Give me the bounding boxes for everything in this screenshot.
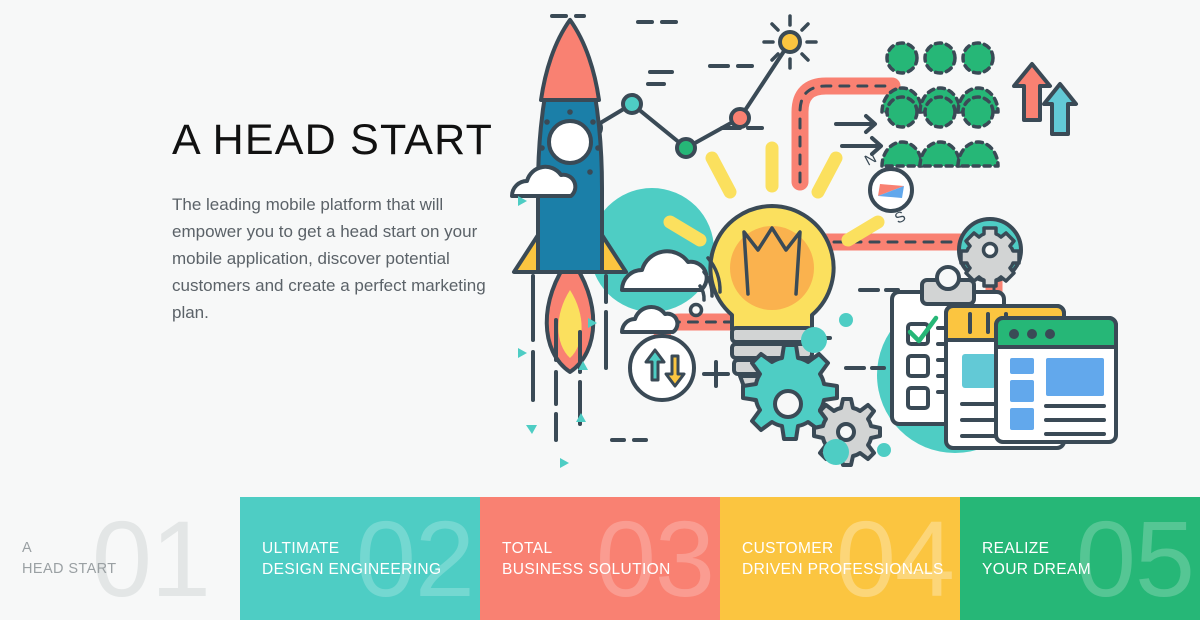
plus-icon	[704, 362, 728, 386]
step-segment-4[interactable]: 04 CUSTOMER DRIVEN PROFESSIONALS	[720, 497, 960, 620]
slide-canvas: A HEAD START The leading mobile platform…	[0, 0, 1200, 620]
step-number-5: 05	[1076, 505, 1194, 613]
up-arrow-icon	[1014, 64, 1076, 134]
svg-text:S: S	[892, 208, 909, 228]
step-labels-1: A HEAD START	[22, 538, 117, 580]
step-bar: 01 A HEAD START 02 ULTIMATE DESIGN ENGIN…	[0, 497, 1200, 620]
step-labels-2: ULTIMATE DESIGN ENGINEERING	[262, 538, 441, 580]
step-label-line1: TOTAL	[502, 538, 671, 559]
step-label-line2: DRIVEN PROFESSIONALS	[742, 559, 944, 580]
step-labels-4: CUSTOMER DRIVEN PROFESSIONALS	[742, 538, 944, 580]
hero-copy-block: A HEAD START The leading mobile platform…	[172, 118, 502, 326]
arrow-right-icon	[836, 116, 881, 154]
step-labels-5: REALIZE YOUR DREAM	[982, 538, 1091, 580]
step-label-line1: A	[22, 538, 117, 559]
settings-gear-icon	[959, 219, 1021, 286]
line-chart-icon	[583, 42, 790, 157]
svg-text:N: N	[862, 149, 880, 169]
people-group-icon	[882, 43, 998, 166]
step-segment-1[interactable]: 01 A HEAD START	[0, 497, 240, 620]
sun-icon	[764, 16, 816, 68]
step-label-line1: REALIZE	[982, 538, 1091, 559]
exchange-arrows-icon	[630, 336, 694, 400]
step-segment-2[interactable]: 02 ULTIMATE DESIGN ENGINEERING	[240, 497, 480, 620]
hero-illustration: N S	[500, 0, 1200, 490]
browser-window-icon	[996, 318, 1116, 442]
step-labels-3: TOTAL BUSINESS SOLUTION	[502, 538, 671, 580]
step-segment-3[interactable]: 03 TOTAL BUSINESS SOLUTION	[480, 497, 720, 620]
step-label-line2: BUSINESS SOLUTION	[502, 559, 671, 580]
step-label-line1: CUSTOMER	[742, 538, 944, 559]
step-label-line1: ULTIMATE	[262, 538, 441, 559]
hero-description: The leading mobile platform that will em…	[172, 191, 490, 326]
step-label-line2: DESIGN ENGINEERING	[262, 559, 441, 580]
step-segment-5[interactable]: 05 REALIZE YOUR DREAM	[960, 497, 1200, 620]
page-title: A HEAD START	[172, 118, 502, 163]
step-label-line2: YOUR DREAM	[982, 559, 1091, 580]
step-label-line2: HEAD START	[22, 559, 117, 580]
